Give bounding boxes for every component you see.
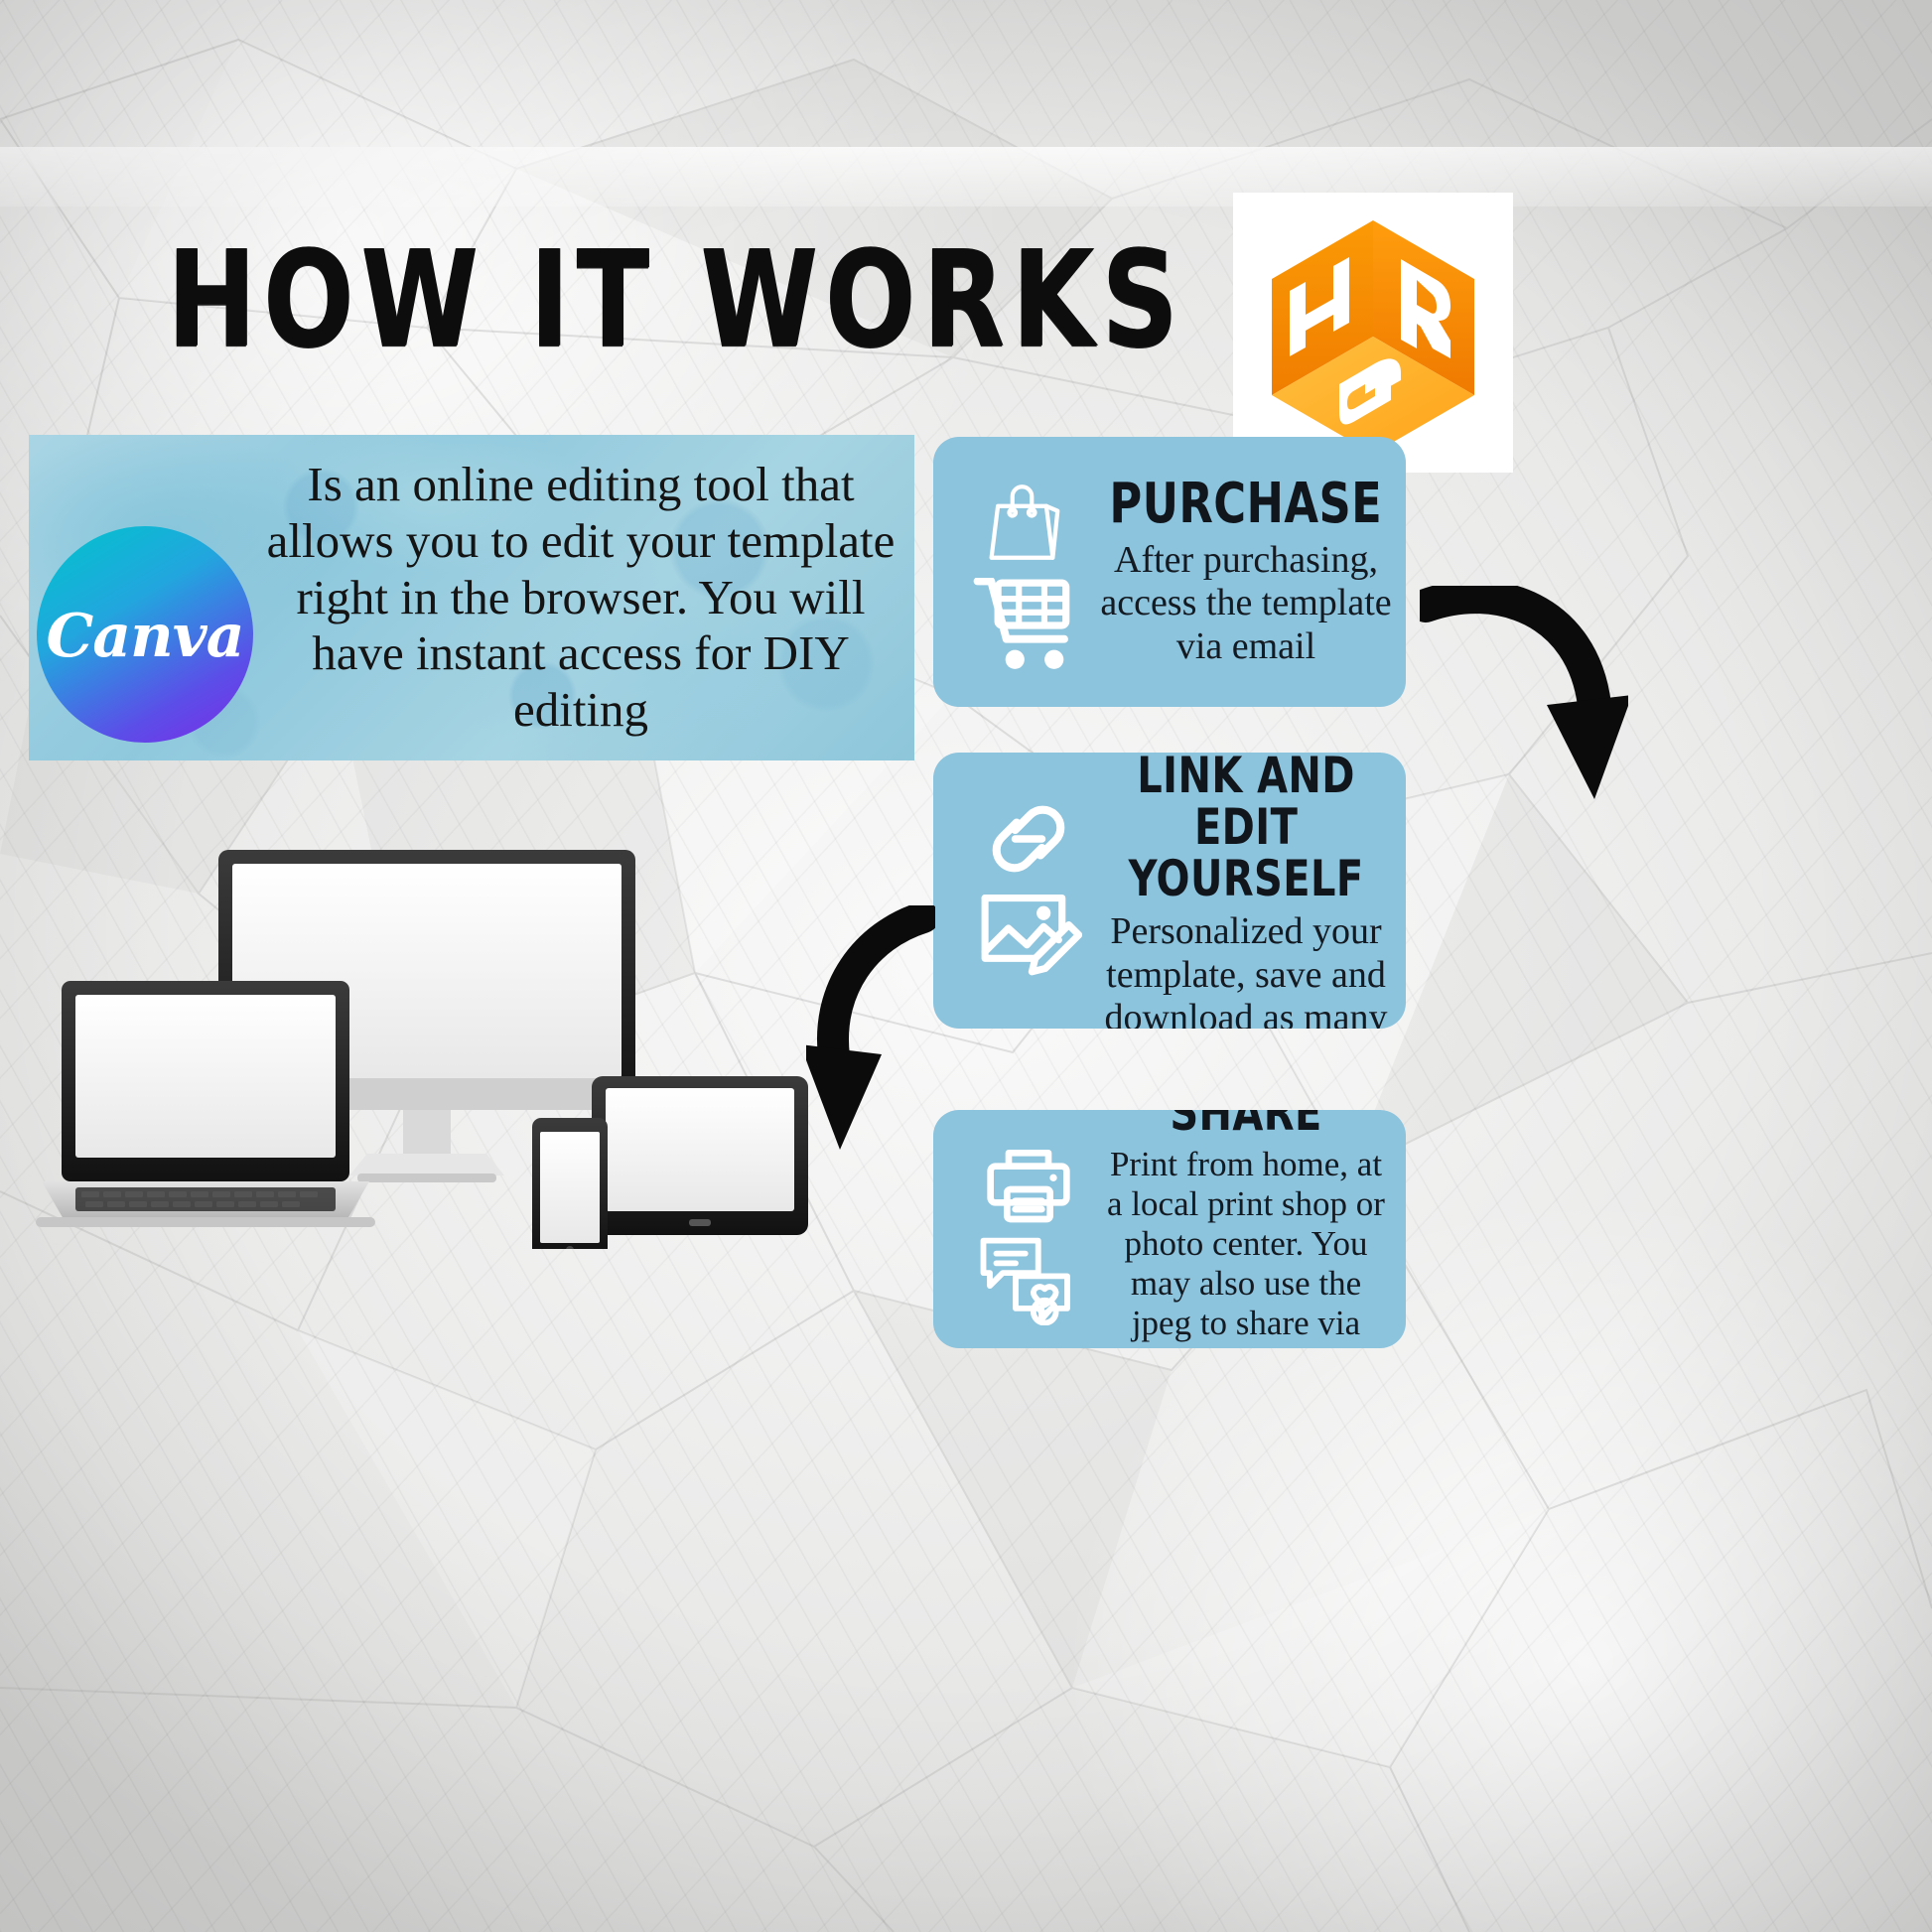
edit-body: Personalized your template, save and dow… xyxy=(1100,910,1392,1029)
print-text-group: PRINT OR SHARE Print from home, at a loc… xyxy=(1100,1110,1392,1348)
print-body: Print from home, at a local print shop o… xyxy=(1100,1145,1392,1348)
step-card-purchase[interactable]: PURCHASE After purchasing, access the te… xyxy=(933,437,1406,707)
canva-logo-label: Canva xyxy=(47,602,244,671)
edit-icon-group xyxy=(959,753,1098,1029)
share-chat-icon xyxy=(977,1230,1080,1325)
print-heading: PRINT OR SHARE xyxy=(1129,1110,1362,1139)
image-edit-icon xyxy=(975,884,1082,983)
canva-description: Is an online editing tool that allows yo… xyxy=(263,457,898,739)
laptop xyxy=(36,981,375,1227)
smartphone xyxy=(532,1118,608,1249)
step-card-edit[interactable]: CLICK THE LINK AND EDIT YOURSELF Persona… xyxy=(933,753,1406,1029)
step-card-print[interactable]: PRINT OR SHARE Print from home, at a loc… xyxy=(933,1110,1406,1348)
link-chain-icon xyxy=(975,798,1082,880)
curved-arrow-down-left-icon xyxy=(806,905,935,1154)
purchase-heading: PURCHASE xyxy=(1110,476,1383,533)
printer-icon xyxy=(979,1133,1078,1226)
edit-heading: CLICK THE LINK AND EDIT YOURSELF xyxy=(1129,753,1364,904)
hrg-logo: HRG xyxy=(1233,193,1513,473)
purchase-body: After purchasing, access the template vi… xyxy=(1100,539,1392,668)
page-title: HOW IT WORKS xyxy=(167,234,1185,367)
purchase-text-group: PURCHASE After purchasing, access the te… xyxy=(1100,437,1392,707)
device-mockup-group xyxy=(30,842,814,1249)
print-icon-group xyxy=(959,1110,1098,1348)
canva-logo-badge: Canva xyxy=(37,526,253,743)
purchase-icon-group xyxy=(959,437,1098,707)
tablet xyxy=(592,1076,808,1235)
infographic-canvas: HOW IT WORKS xyxy=(0,0,1932,1932)
edit-text-group: CLICK THE LINK AND EDIT YOURSELF Persona… xyxy=(1100,753,1392,1029)
shopping-cart-icon xyxy=(973,578,1084,673)
shopping-bag-icon xyxy=(977,471,1080,574)
curved-arrow-down-icon xyxy=(1420,586,1628,814)
canva-info-panel: Canva Is an online editing tool that all… xyxy=(29,435,914,760)
